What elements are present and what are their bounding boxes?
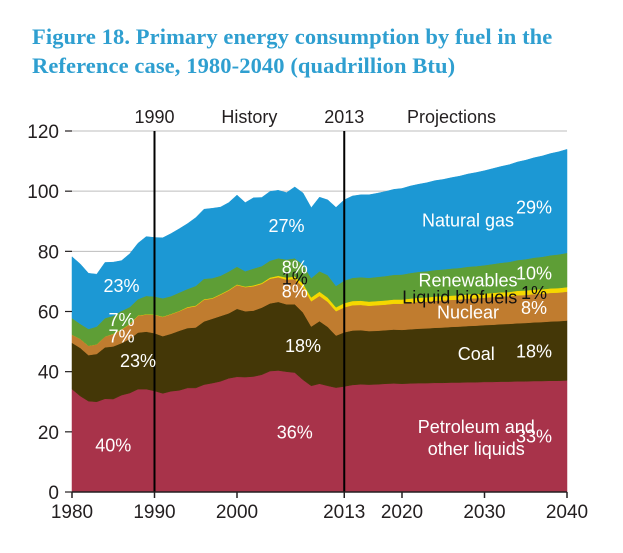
pct-label-coal-2036: 18%: [516, 342, 552, 362]
y-tick-label: 80: [38, 242, 59, 263]
y-tick-label: 40: [38, 363, 59, 384]
projections-label: Projections: [407, 107, 496, 127]
series-name-natural-gas: Natural gas: [422, 210, 514, 230]
divider-year-right: 2013: [324, 107, 364, 127]
x-tick-labels: 1980199020002013202020302040: [51, 502, 588, 523]
stacked-area-chart: 020406080100120 198019902000201320202030…: [0, 0, 623, 553]
pct-label-natural-gas-1986: 23%: [103, 276, 139, 296]
y-tick-label: 20: [38, 423, 59, 444]
y-tick-label: 100: [27, 182, 59, 203]
x-tick-label: 1980: [51, 502, 93, 523]
pct-label-petroleum-and-other-liquids-2007: 36%: [277, 422, 313, 442]
y-tick-label: 0: [48, 483, 59, 504]
y-tick-label: 60: [38, 303, 59, 324]
series-name-renewables: Renewables: [418, 271, 517, 291]
series-name-coal: Coal: [458, 344, 495, 364]
pct-label-natural-gas-2006: 27%: [268, 216, 304, 236]
pct-label-coal-2008: 18%: [285, 336, 321, 356]
x-tick-label: 2030: [463, 502, 505, 523]
x-tick-label: 1990: [133, 502, 175, 523]
divider-year-left: 1990: [134, 107, 174, 127]
era-labels: 19902013HistoryProjections: [134, 107, 496, 127]
pct-label-coal-1988: 23%: [120, 351, 156, 371]
pct-label-petroleum-and-other-liquids-1985: 40%: [95, 436, 131, 456]
pct-label-liquid-biofuels-2036: 1%: [521, 283, 547, 303]
y-tick-labels: 020406080100120: [27, 122, 59, 504]
x-tick-label: 2040: [546, 502, 588, 523]
pct-label-renewables-2036: 10%: [516, 264, 552, 284]
y-tick-label: 120: [27, 122, 59, 143]
series-name-petroleum-and-other-liquids-line1: Petroleum and: [418, 417, 535, 437]
history-label: History: [221, 107, 277, 127]
x-tick-label: 2020: [381, 502, 423, 523]
pct-label-natural-gas-2036: 29%: [516, 198, 552, 218]
pct-label-renewables-2007: 8%: [282, 257, 308, 277]
figure-container: Figure 18. Primary energy consumption by…: [0, 0, 623, 553]
x-tick-label: 2000: [216, 502, 258, 523]
pct-label-renewables-1986: 7%: [108, 310, 134, 330]
x-tick-label: 2013: [323, 502, 365, 523]
series-name-petroleum-and-other-liquids-line2: other liquids: [428, 439, 525, 459]
